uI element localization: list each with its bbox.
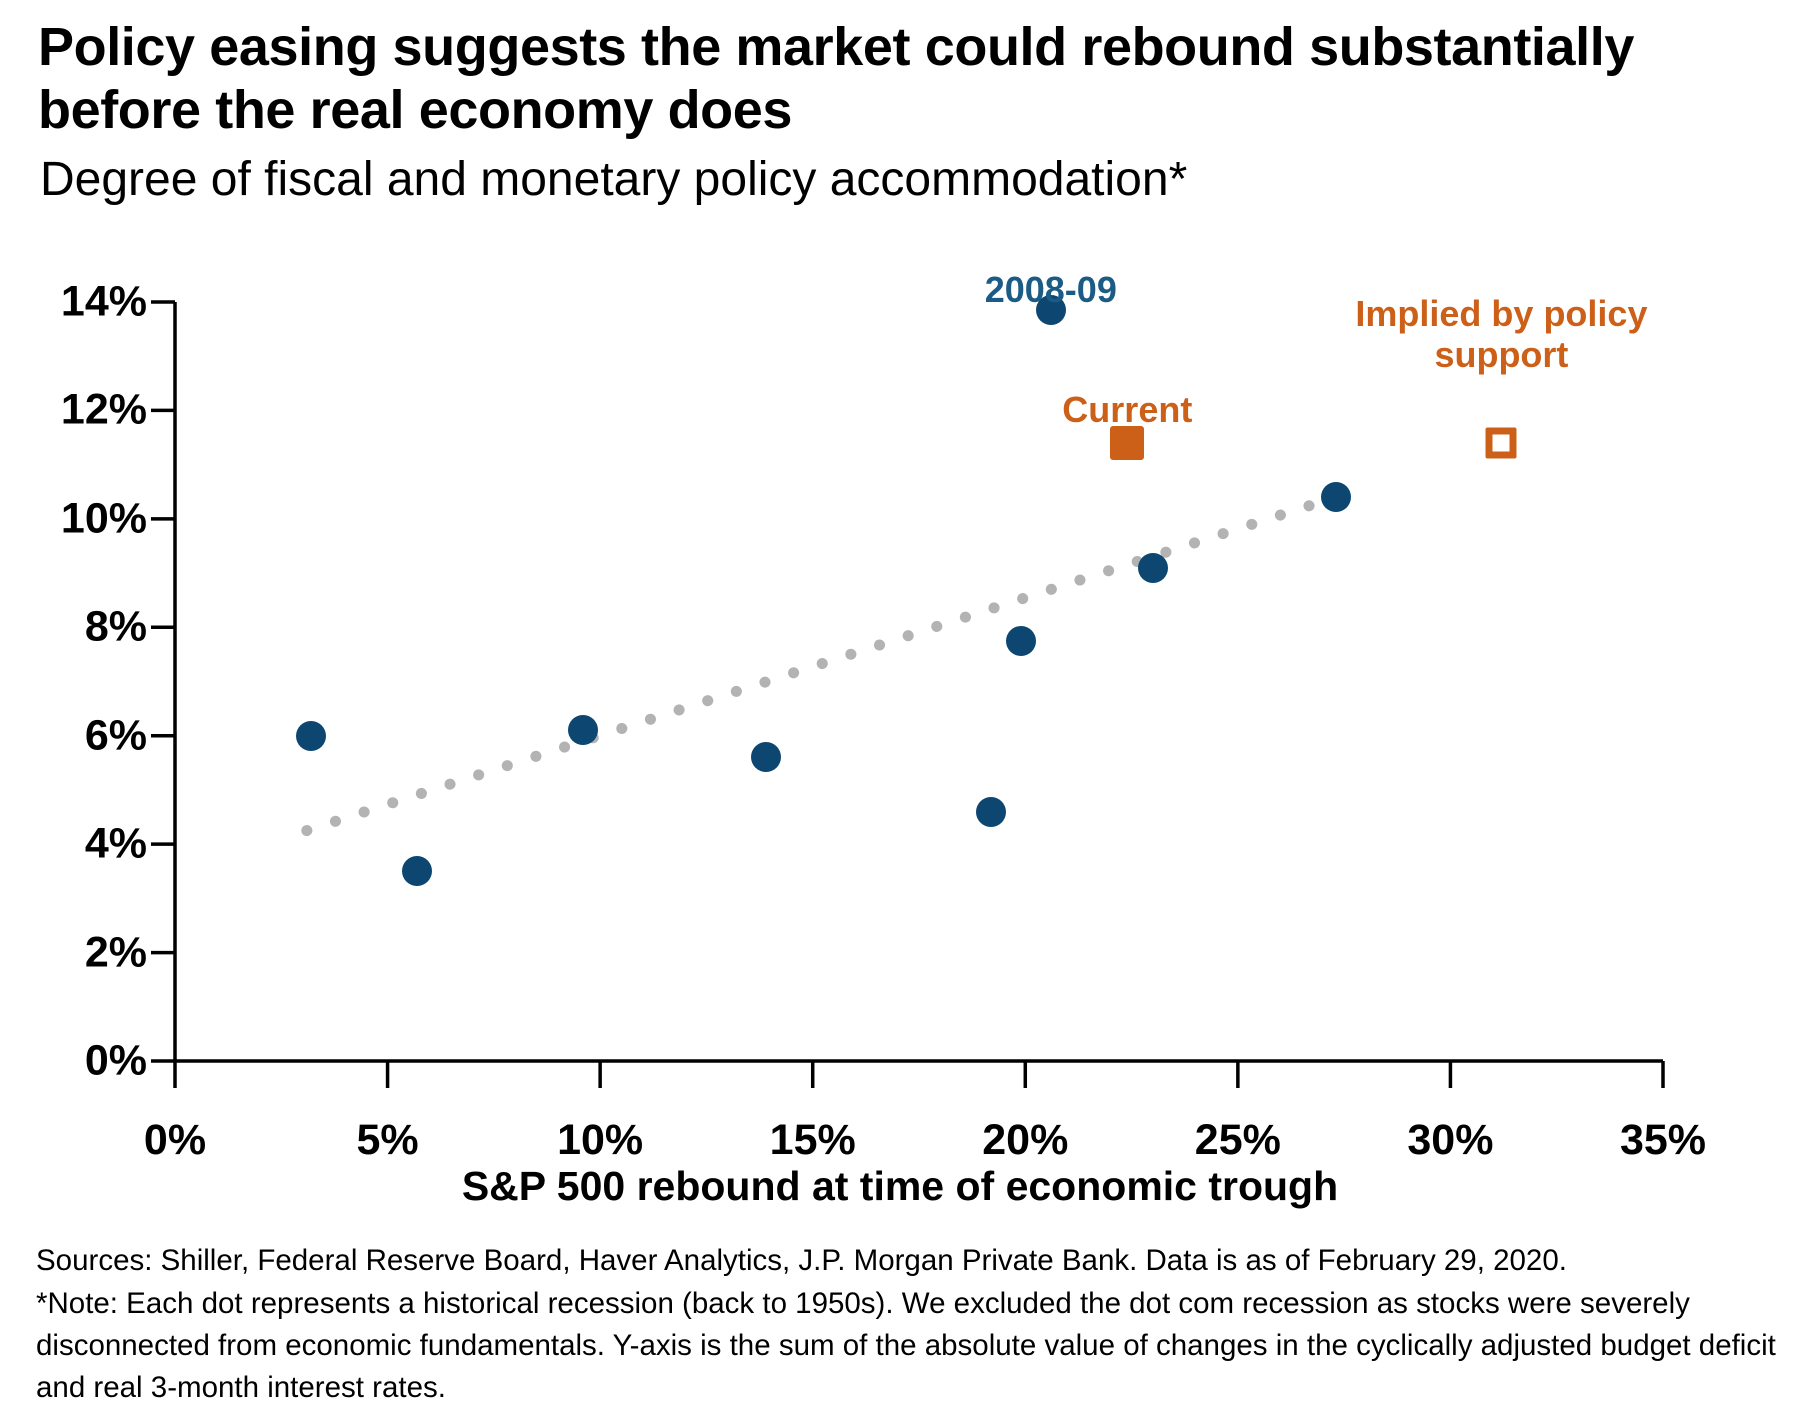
trend-line — [307, 497, 1336, 830]
scatter-dot — [402, 856, 432, 886]
current-marker — [1110, 426, 1144, 460]
x-tick-label: 10% — [520, 1116, 680, 1165]
y-tick-label: 12% — [7, 386, 147, 435]
scatter-dot — [296, 721, 326, 751]
y-tick-label: 8% — [7, 603, 147, 652]
scatter-dot — [1138, 553, 1168, 583]
x-tick-label: 15% — [733, 1116, 893, 1165]
page-title: Policy easing suggests the market could … — [38, 16, 1768, 142]
y-tick-label: 2% — [7, 928, 147, 977]
annotation-label: Implied by policy support — [1355, 293, 1647, 377]
x-tick-label: 25% — [1158, 1116, 1318, 1165]
scatter-dot — [751, 742, 781, 772]
scatter-dot — [568, 715, 598, 745]
x-tick-label: 20% — [945, 1116, 1105, 1165]
y-tick-label: 0% — [7, 1037, 147, 1086]
y-tick-label: 6% — [7, 711, 147, 760]
y-tick-label: 14% — [7, 278, 147, 327]
chart-page: Policy easing suggests the market could … — [0, 0, 1800, 1423]
footnote-sources: Sources: Shiller, Federal Reserve Board,… — [36, 1240, 1781, 1282]
implied-marker — [1486, 427, 1517, 458]
y-tick-label: 10% — [7, 494, 147, 543]
chart-subtitle: Degree of fiscal and monetary policy acc… — [40, 152, 1770, 207]
annotation-label: 2008-09 — [985, 269, 1117, 311]
annotation-label: Current — [1062, 389, 1192, 431]
x-tick-label: 0% — [95, 1116, 255, 1165]
scatter-dot — [1321, 482, 1351, 512]
x-axis-label: S&P 500 rebound at time of economic trou… — [0, 1163, 1800, 1210]
scatter-dot — [1006, 626, 1036, 656]
x-tick-label: 35% — [1583, 1116, 1743, 1165]
y-tick-label: 4% — [7, 820, 147, 869]
scatter-dot — [976, 797, 1006, 827]
x-tick-label: 30% — [1370, 1116, 1530, 1165]
footnote-note: *Note: Each dot represents a historical … — [36, 1283, 1781, 1409]
x-tick-label: 5% — [308, 1116, 468, 1165]
